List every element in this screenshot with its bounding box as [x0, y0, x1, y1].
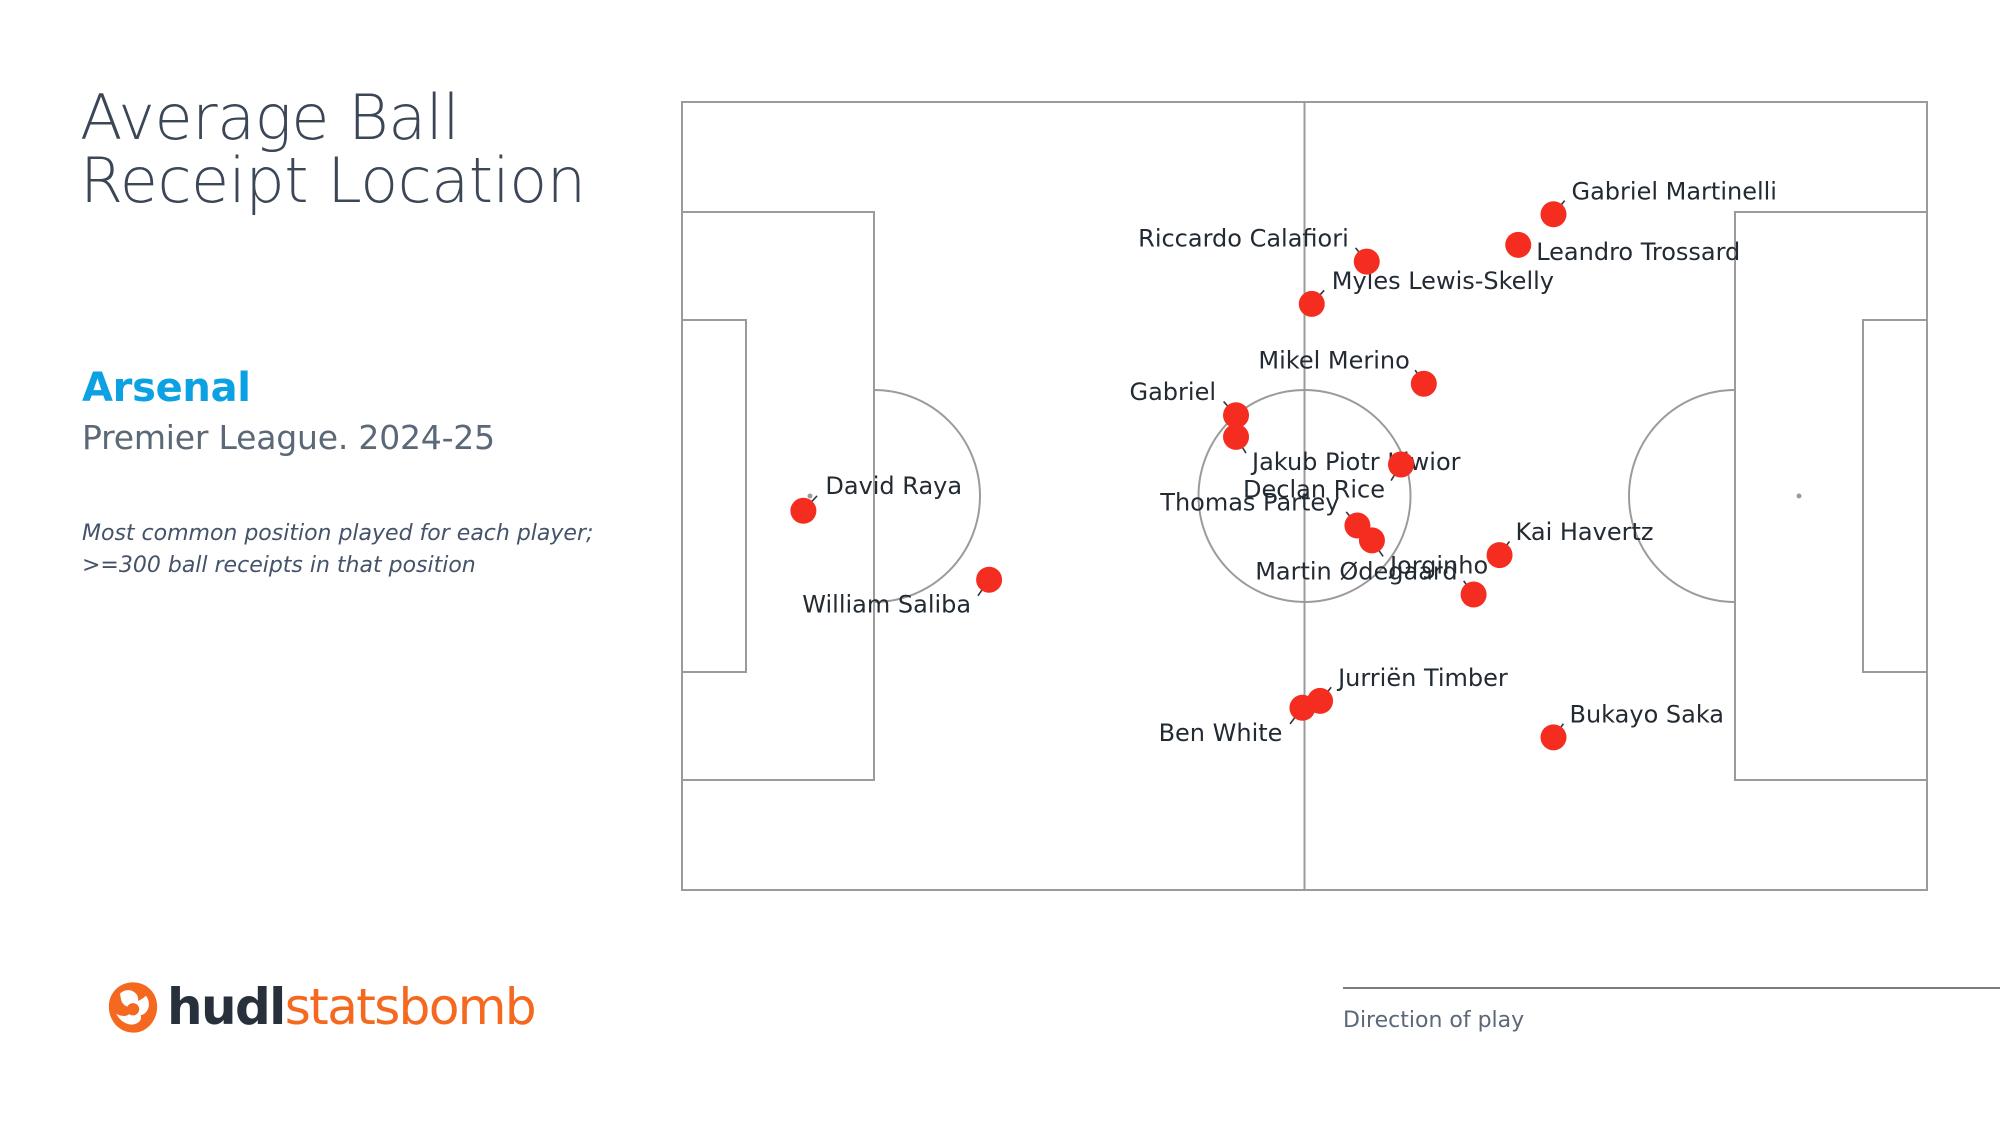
player-dot[interactable] [1388, 451, 1414, 477]
player-dot[interactable] [1541, 724, 1567, 750]
player-dot[interactable] [1307, 688, 1333, 714]
right-penalty-arc [1629, 390, 1735, 602]
player-dot[interactable] [1359, 527, 1385, 553]
player-label: Gabriel Martinelli [1572, 177, 1777, 205]
player-leader-line [978, 590, 982, 596]
player-label: David Raya [825, 472, 962, 500]
logo-hudl-text: hudl [167, 978, 285, 1036]
brand-logo: hudlstatsbomb [105, 977, 535, 1037]
left-penalty-spot [808, 494, 813, 499]
competition-season: Premier League. 2024-25 [82, 418, 495, 457]
player-points-layer: David RayaWilliam SalibaGabrielJakub Pio… [790, 177, 1777, 750]
player-label: Leandro Trossard [1536, 238, 1740, 266]
right-six-yard-box [1863, 320, 1927, 672]
methodology-note: Most common position played for each pla… [82, 518, 642, 582]
player-label: Jakub Piotr Kiwior [1250, 448, 1461, 476]
player-label: Declan Rice [1243, 475, 1385, 503]
player-dot[interactable] [1461, 582, 1487, 608]
player-dot[interactable] [1299, 291, 1325, 317]
pitch-svg: David RayaWilliam SalibaGabrielJakub Pio… [660, 80, 2000, 960]
player-label: Kai Havertz [1516, 518, 1654, 546]
left-six-yard-box [682, 320, 746, 672]
direction-of-play-label: Direction of play [1343, 1008, 1524, 1033]
player-dot[interactable] [1505, 232, 1531, 258]
player-label: William Saliba [802, 591, 971, 619]
player-label: Martin Ødegaard [1255, 558, 1457, 586]
player-leader-line [1290, 717, 1295, 724]
player-dot[interactable] [1411, 371, 1437, 397]
team-name: Arsenal [82, 365, 251, 411]
player-label: Gabriel [1130, 378, 1217, 406]
direction-of-play-arrow-icon [1343, 976, 2000, 1000]
right-penalty-spot [1797, 494, 1802, 499]
visualization-root: Average Ball Receipt Location Arsenal Pr… [0, 0, 2000, 1125]
player-label: Ben White [1159, 719, 1283, 747]
pitch-chart: David RayaWilliam SalibaGabrielJakub Pio… [660, 80, 2000, 960]
right-penalty-area [1735, 212, 1927, 780]
player-dot[interactable] [790, 498, 816, 524]
player-dot[interactable] [1541, 201, 1567, 227]
player-label: Bukayo Saka [1570, 700, 1725, 728]
player-dot[interactable] [1487, 542, 1513, 568]
player-label: Mikel Merino [1258, 347, 1409, 375]
brand-logo-text: hudlstatsbomb [167, 982, 535, 1032]
hudl-shield-icon [105, 979, 161, 1035]
player-leader-line [1242, 447, 1246, 453]
page-title: Average Ball Receipt Location [80, 86, 640, 212]
player-dot[interactable] [976, 567, 1002, 593]
player-leader-line [1379, 550, 1383, 556]
player-dot[interactable] [1223, 424, 1249, 450]
logo-statsbomb-text: statsbomb [285, 978, 535, 1036]
player-dot[interactable] [1354, 249, 1380, 275]
info-panel: Average Ball Receipt Location Arsenal Pr… [0, 0, 660, 1125]
player-label: Riccardo Calafiori [1138, 225, 1349, 253]
player-label: Jurriën Timber [1336, 664, 1508, 692]
